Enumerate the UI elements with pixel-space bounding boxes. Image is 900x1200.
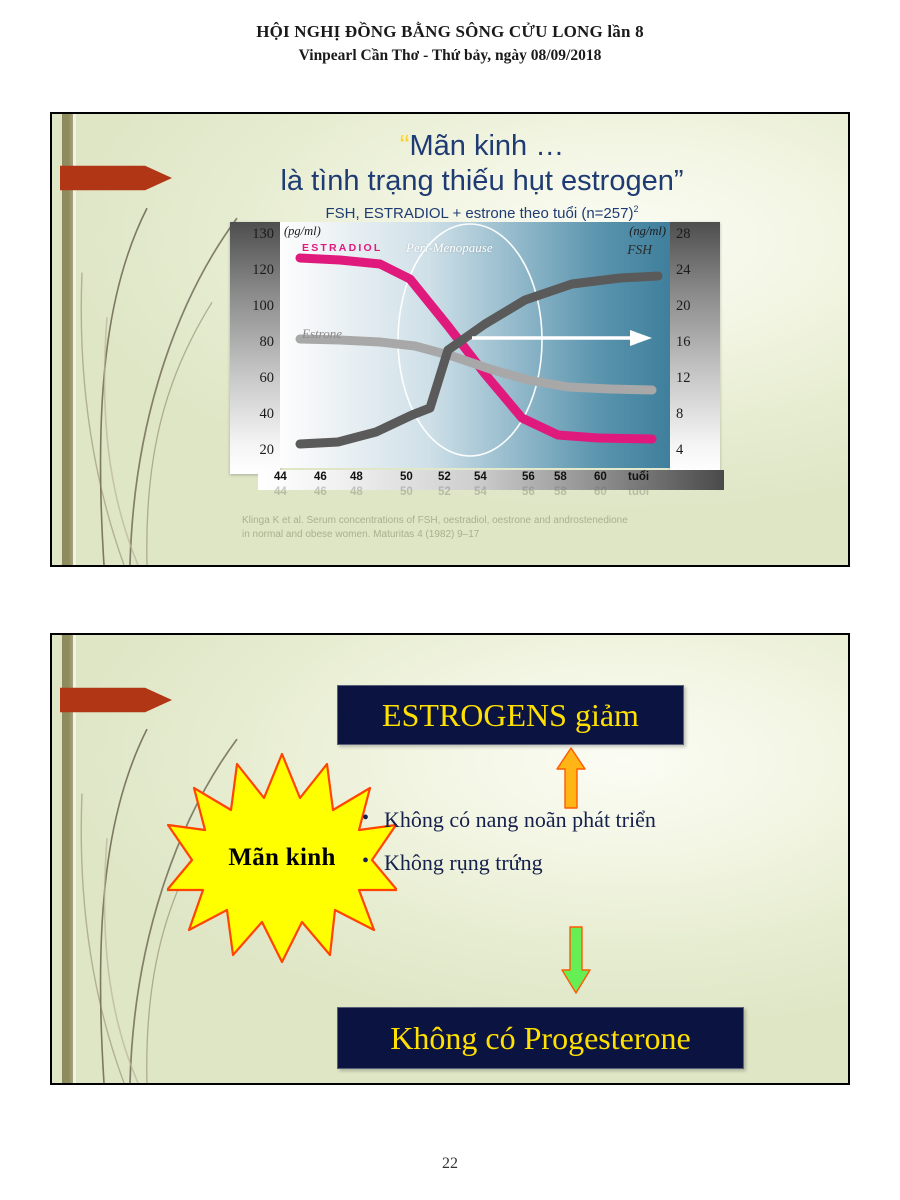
x-tick-ghost: 54 — [474, 486, 487, 498]
bullet-marker: • — [362, 850, 384, 872]
x-tick: 44 — [274, 471, 287, 483]
right-tick: 20 — [670, 298, 720, 315]
citation-line-2: in normal and obese women. Maturitas 4 (… — [242, 528, 742, 542]
hormone-chart: 130 120 100 80 60 40 20 28 24 20 16 12 8… — [230, 222, 720, 490]
left-tick: 80 — [230, 334, 280, 351]
list-item: • Không rụng trứng — [362, 850, 782, 875]
list-item: • Không có nang noãn phát triển — [362, 807, 782, 832]
x-tick: 54 — [474, 471, 487, 483]
x-tick-ghost: 48 — [350, 486, 363, 498]
chart-right-axis: 28 24 20 16 12 8 4 — [670, 222, 720, 474]
chart-curves — [280, 222, 670, 468]
x-tick-ghost: 50 — [400, 486, 413, 498]
right-tick: 24 — [670, 262, 720, 279]
peri-menopause-label: Peri-Menopause — [406, 240, 493, 256]
bullet-list: • Không có nang noãn phát triển • Không … — [362, 807, 782, 894]
document-header: HỘI NGHỊ ĐỒNG BẰNG SÔNG CỬU LONG lần 8 V… — [0, 22, 900, 65]
slide-1-title: “Mãn kinh … là tình trạng thiếu hụt estr… — [162, 129, 802, 200]
right-tick: 16 — [670, 334, 720, 351]
x-tick-ghost: 52 — [438, 486, 451, 498]
x-tick: 58 — [554, 471, 567, 483]
estradiol-curve — [300, 258, 652, 439]
slide-2[interactable]: ESTROGENS giảm Mãn kinh • Không có nang … — [50, 633, 850, 1085]
x-tick: 52 — [438, 471, 451, 483]
x-tick-ghost: 60 — [594, 486, 607, 498]
bullet-text: Không có nang noãn phát triển — [384, 807, 656, 832]
estrogens-box[interactable]: ESTROGENS giảm — [337, 685, 684, 745]
x-tick-ghost: 58 — [554, 486, 567, 498]
right-tick: 8 — [670, 406, 720, 423]
left-tick: 20 — [230, 442, 280, 459]
fsh-series-label: FSH — [627, 242, 652, 258]
header-line-1: HỘI NGHỊ ĐỒNG BẰNG SÔNG CỬU LONG lần 8 — [0, 22, 900, 42]
green-down-arrow-icon — [561, 926, 591, 994]
slide-1[interactable]: “Mãn kinh … là tình trạng thiếu hụt estr… — [50, 112, 850, 567]
left-tick: 130 — [230, 226, 280, 243]
citation-line-1: Klinga K et al. Serum concentrations of … — [242, 514, 742, 528]
x-axis-unit-label: tuổi — [628, 471, 649, 483]
x-tick-ghost: 44 — [274, 486, 287, 498]
bullet-marker: • — [362, 807, 384, 829]
x-tick: 56 — [522, 471, 535, 483]
left-tick: 60 — [230, 370, 280, 387]
x-tick: 48 — [350, 471, 363, 483]
subtitle-superscript: 2 — [633, 204, 638, 214]
x-tick-ghost: 46 — [314, 486, 327, 498]
page-number: 22 — [0, 1155, 900, 1173]
estrogens-box-label: ESTROGENS giảm — [382, 697, 639, 734]
left-tick: 100 — [230, 298, 280, 315]
estrone-curve — [300, 339, 652, 390]
title-line-1: Mãn kinh … — [409, 130, 564, 162]
x-tick: 50 — [400, 471, 413, 483]
estrone-series-label: Estrone — [302, 326, 342, 342]
subtitle-text: FSH, ESTRADIOL + estrone theo tuổi (n=25… — [326, 205, 634, 222]
left-tick: 40 — [230, 406, 280, 423]
slide-1-subtitle: FSH, ESTRADIOL + estrone theo tuổi (n=25… — [162, 204, 802, 222]
x-axis-unit-ghost: tuổi — [628, 486, 649, 498]
title-line-2: là tình trạng thiếu hụt estrogen — [280, 165, 673, 197]
chart-x-axis-ghost: 44 46 48 50 52 54 56 58 60 tuổi — [258, 486, 724, 502]
x-tick-ghost: 56 — [522, 486, 535, 498]
left-tick: 120 — [230, 262, 280, 279]
bullet-text: Không rụng trứng — [384, 850, 543, 875]
right-tick: 12 — [670, 370, 720, 387]
header-line-2: Vinpearl Cần Thơ - Thứ bảy, ngày 08/09/2… — [0, 47, 900, 65]
right-tick: 4 — [670, 442, 720, 459]
chart-citation: Klinga K et al. Serum concentrations of … — [242, 514, 742, 542]
chart-left-axis: 130 120 100 80 60 40 20 — [230, 222, 280, 474]
trend-right-arrow-icon — [472, 330, 652, 346]
chart-plot-area: (pg/ml) (ng/ml) ESTRADIOL Estrone FSH Pe… — [280, 222, 670, 468]
estradiol-series-label: ESTRADIOL — [302, 242, 382, 254]
progesterone-box-label: Không có Progesterone — [390, 1020, 690, 1057]
x-tick: 46 — [314, 471, 327, 483]
progesterone-box[interactable]: Không có Progesterone — [337, 1007, 744, 1069]
right-tick: 28 — [670, 226, 720, 243]
title-close-quote: ” — [674, 165, 684, 197]
orange-up-arrow-icon — [556, 747, 586, 809]
x-tick: 60 — [594, 471, 607, 483]
